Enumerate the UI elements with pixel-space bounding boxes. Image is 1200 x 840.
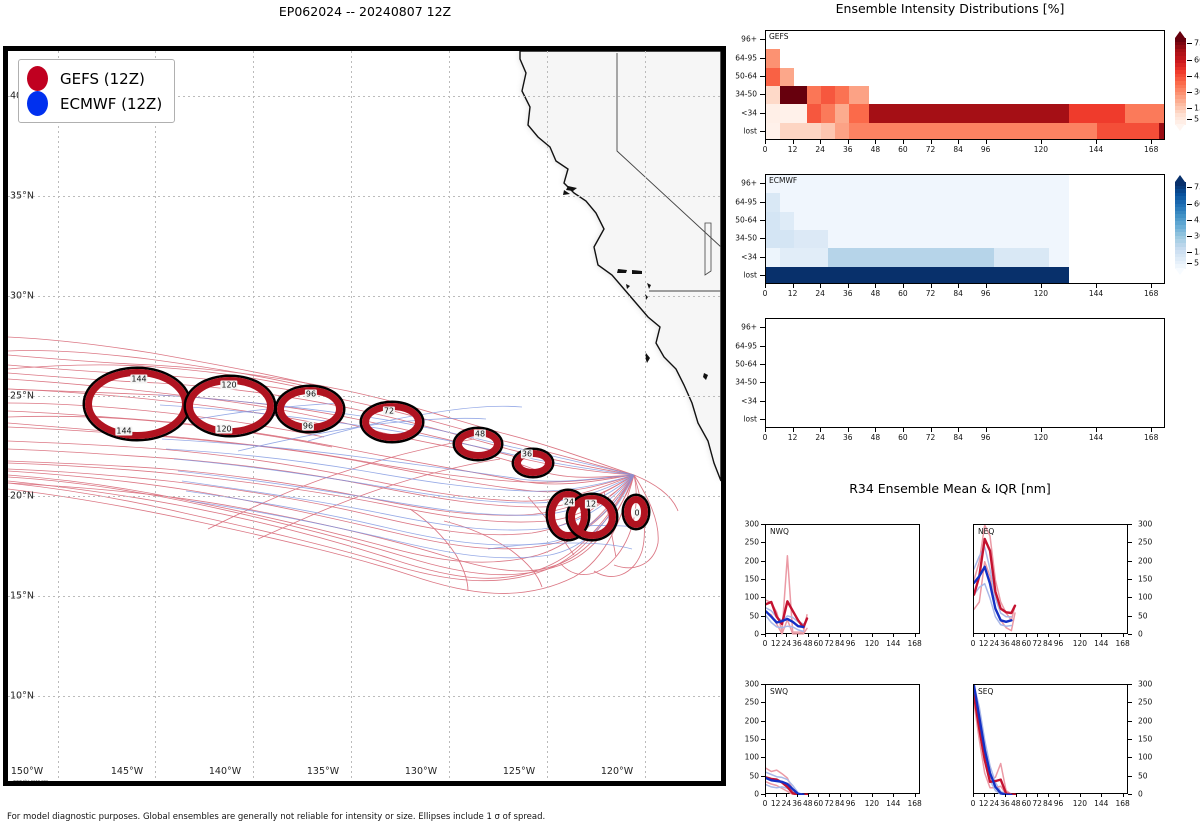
r34-xtick: 12 xyxy=(771,799,781,808)
r34-xtickmark xyxy=(851,634,852,637)
ellipse-label-144: 144 xyxy=(130,375,147,384)
r34-xtick: 60 xyxy=(1022,639,1032,648)
intensity-xtickmark xyxy=(1151,140,1152,144)
r34-xtickmark xyxy=(1059,794,1060,797)
r34-xtickmark xyxy=(786,634,787,637)
r34-xtick: 24 xyxy=(782,639,792,648)
r34-xtickmark xyxy=(1026,634,1027,637)
r34-ytick: 100 xyxy=(737,753,759,762)
intensity-xtick: 96 xyxy=(981,289,991,298)
r34-xtickmark xyxy=(994,794,995,797)
intensity-ytick: 50-64 xyxy=(730,215,757,224)
map-gridline-vertical xyxy=(58,51,59,781)
r34-xtickmark xyxy=(840,634,841,637)
intensity-heatmap-empty[interactable] xyxy=(765,318,1165,428)
intensity-xtick: 48 xyxy=(871,289,881,298)
heatmap-cell xyxy=(766,267,1069,284)
r34-xtick: 24 xyxy=(990,799,1000,808)
r34-ytick: 200 xyxy=(1138,556,1152,565)
map-gridline-horizontal xyxy=(8,296,721,297)
r34-xtick: 24 xyxy=(990,639,1000,648)
lat-label-35n: 35°N xyxy=(8,191,34,202)
intensity-ytick: 96+ xyxy=(730,179,757,188)
r34-ytick: 250 xyxy=(737,698,759,707)
r34-series-layer xyxy=(766,685,921,795)
r34-ytick: 300 xyxy=(737,520,759,529)
intensity-xtickmark xyxy=(1096,284,1097,288)
colorbar-tick: 5 xyxy=(1194,258,1199,267)
r34-ytickmark xyxy=(761,739,765,740)
intensity-xtick: 84 xyxy=(953,289,963,298)
intensity-xtick: 120 xyxy=(1034,145,1048,154)
intensity-xtick: 72 xyxy=(926,433,936,442)
intensity-xtick: 60 xyxy=(898,433,908,442)
colorbar-tick: 30 xyxy=(1194,87,1200,96)
heatmap-cell xyxy=(821,123,835,140)
r34-quadrant-nwq[interactable]: NWQ xyxy=(765,524,920,634)
r34-ytick: 250 xyxy=(1138,698,1152,707)
intensity-heatmap-gefs[interactable]: GEFS xyxy=(765,30,1165,140)
r34-xtick: 36 xyxy=(792,639,802,648)
intensity-xtick: 48 xyxy=(871,145,881,154)
r34-xtick: 168 xyxy=(907,639,921,648)
lat-label-10n: 10°N xyxy=(8,691,34,702)
r34-ytickmark xyxy=(1128,542,1132,543)
intensity-xtick: 144 xyxy=(1089,289,1103,298)
r34-ytick: 0 xyxy=(1138,630,1143,639)
r34-ytick: 0 xyxy=(1138,790,1143,799)
colorbar-tick: 30 xyxy=(1194,231,1200,240)
heatmap-cell xyxy=(869,104,1069,122)
map-gridline-horizontal xyxy=(8,196,721,197)
r34-xtickmark xyxy=(984,634,985,637)
heatmap-cell xyxy=(780,123,821,140)
r34-xtick: 48 xyxy=(803,799,813,808)
heatmap-cell xyxy=(766,212,780,230)
heatmap-model-label: GEFS xyxy=(769,32,789,41)
intensity-xtick: 0 xyxy=(763,433,768,442)
r34-xtickmark xyxy=(1080,634,1081,637)
lat-label-25n: 25°N xyxy=(8,391,34,402)
colorbar-min-arrow-icon xyxy=(1175,124,1185,131)
r34-xtick: 144 xyxy=(886,799,900,808)
r34-xtickmark xyxy=(1059,634,1060,637)
lon-label-135w: 135°W xyxy=(307,766,339,777)
r34-series-layer xyxy=(974,685,1129,795)
r34-xtick: 84 xyxy=(1043,639,1053,648)
intensity-colorbar xyxy=(1175,182,1186,268)
colorbar-tickmark xyxy=(1187,220,1192,221)
intensity-ytickmark xyxy=(760,419,765,420)
r34-xtick: 60 xyxy=(1022,799,1032,808)
quadrant-label: NEQ xyxy=(978,527,994,536)
heatmap-cell xyxy=(828,230,1069,248)
r34-xtickmark xyxy=(829,794,830,797)
intensity-xtickmark xyxy=(820,140,821,144)
intensity-xtickmark xyxy=(931,284,932,288)
r34-ytick: 200 xyxy=(737,716,759,725)
r34-xtickmark xyxy=(872,634,873,637)
heatmap-cell xyxy=(821,104,835,122)
intensity-ytickmark xyxy=(760,113,765,114)
intensity-xtick: 12 xyxy=(788,145,798,154)
r34-xtickmark xyxy=(797,634,798,637)
intensity-xtickmark xyxy=(765,284,766,288)
r34-xtick: 96 xyxy=(846,639,856,648)
r34-ytick: 150 xyxy=(1138,735,1152,744)
intensity-ytick: <34 xyxy=(730,108,757,117)
intensity-xtick: 168 xyxy=(1144,433,1158,442)
ellipse-label-0: 0 xyxy=(633,509,640,518)
r34-ytickmark xyxy=(1128,702,1132,703)
intensity-ytick: 50-64 xyxy=(730,71,757,80)
colorbar-tick: 60 xyxy=(1194,199,1200,208)
intensity-xtick: 36 xyxy=(843,433,853,442)
r34-xtickmark xyxy=(994,634,995,637)
r34-ytick: 250 xyxy=(737,538,759,547)
intensity-ytick: 34-50 xyxy=(730,234,757,243)
r34-ytickmark xyxy=(761,757,765,758)
heatmap-cell xyxy=(780,104,808,122)
intensity-xtickmark xyxy=(848,140,849,144)
heatmap-cell xyxy=(766,104,780,122)
intensity-xtickmark xyxy=(793,140,794,144)
heatmap-cell xyxy=(1159,123,1165,140)
r34-ytickmark xyxy=(1128,616,1132,617)
intensity-ytick: 34-50 xyxy=(730,378,757,387)
intensity-ytickmark xyxy=(760,39,765,40)
r34-ytick: 300 xyxy=(1138,680,1152,689)
intensity-ytick: 50-64 xyxy=(730,359,757,368)
heatmap-cell xyxy=(1069,104,1124,122)
ellipse-label-12: 12 xyxy=(585,500,597,509)
r34-xtick: 0 xyxy=(971,639,976,648)
intensity-ytickmark xyxy=(760,94,765,95)
colorbar-tickmark xyxy=(1187,92,1192,93)
colorbar-tickmark xyxy=(1187,108,1192,109)
r34-xtick: 144 xyxy=(1094,639,1108,648)
r34-ytickmark xyxy=(1128,739,1132,740)
r34-xtick: 120 xyxy=(865,639,879,648)
r34-quadrant-neq[interactable]: NEQ xyxy=(973,524,1128,634)
r34-xtick: 96 xyxy=(1054,799,1064,808)
intensity-ytickmark xyxy=(760,401,765,402)
heatmap-cell xyxy=(766,193,780,211)
intensity-colorbar xyxy=(1175,38,1186,124)
heatmap-cell xyxy=(807,104,821,122)
r34-xtick: 24 xyxy=(782,799,792,808)
r34-ytickmark xyxy=(1128,794,1132,795)
r34-panel-title: R34 Ensemble Mean & IQR [nm] xyxy=(730,481,1170,496)
map-canvas[interactable]: 40°N 35°N 30°N 25°N 20°N 15°N 10°N 150°W… xyxy=(8,51,721,781)
r34-ytick: 150 xyxy=(737,575,759,584)
r34-ytick: 150 xyxy=(737,735,759,744)
intensity-xtickmark xyxy=(1151,428,1152,432)
r34-quadrant-swq[interactable]: SWQ xyxy=(765,684,920,794)
legend-label-gefs: GEFS (12Z) xyxy=(60,70,145,88)
r34-ytick: 300 xyxy=(1138,520,1152,529)
intensity-xtickmark xyxy=(875,284,876,288)
ellipse-label-72: 72 xyxy=(383,407,395,416)
quadrant-label: SEQ xyxy=(978,687,993,696)
lon-label-120w: 120°W xyxy=(601,766,633,777)
colorbar-tick: 75 xyxy=(1194,183,1200,192)
r34-xtick: 144 xyxy=(1094,799,1108,808)
r34-ytickmark xyxy=(761,597,765,598)
colorbar-min-arrow-icon xyxy=(1175,268,1185,275)
colorbar-max-arrow-icon xyxy=(1175,175,1185,182)
r34-xtick: 36 xyxy=(792,799,802,808)
intensity-ytick: <34 xyxy=(730,396,757,405)
spread-ellipse-36 xyxy=(514,450,552,476)
r34-xtick: 84 xyxy=(835,639,845,648)
r34-xtickmark xyxy=(1101,794,1102,797)
heatmap-cell xyxy=(1049,248,1070,266)
colorbar-tick: 60 xyxy=(1194,55,1200,64)
r34-xtickmark xyxy=(1101,634,1102,637)
red-dot-icon xyxy=(27,66,48,91)
r34-ytickmark xyxy=(761,579,765,580)
footer-disclaimer: For model diagnostic purposes. Global en… xyxy=(7,812,545,822)
intensity-xtickmark xyxy=(986,428,987,432)
intensity-xtick: 96 xyxy=(981,433,991,442)
colorbar-tickmark xyxy=(1187,204,1192,205)
colorbar-tick: 45 xyxy=(1194,215,1200,224)
r34-xtickmark xyxy=(973,794,974,797)
intensity-xtick: 24 xyxy=(815,289,825,298)
r34-ytickmark xyxy=(761,524,765,525)
intensity-xtick: 12 xyxy=(788,289,798,298)
heatmap-cell xyxy=(780,86,808,104)
r34-ytickmark xyxy=(761,684,765,685)
heatmap-cell xyxy=(835,123,849,140)
intensity-ytick: <34 xyxy=(730,252,757,261)
intensity-xtick: 24 xyxy=(815,145,825,154)
intensity-ytick: 64-95 xyxy=(730,341,757,350)
ellipse-label-36: 36 xyxy=(521,450,533,459)
r34-xtick: 0 xyxy=(763,639,768,648)
r34-ytickmark xyxy=(1128,524,1132,525)
intensity-xtickmark xyxy=(1041,428,1042,432)
r34-xtickmark xyxy=(1016,634,1017,637)
intensity-xtick: 60 xyxy=(898,289,908,298)
r34-ytickmark xyxy=(1128,776,1132,777)
r34-xtickmark xyxy=(1026,794,1027,797)
map-legend[interactable]: GEFS (12Z) ECMWF (12Z) xyxy=(18,59,175,123)
heatmap-cell xyxy=(766,86,780,104)
r34-xtickmark xyxy=(1048,794,1049,797)
r34-xtick: 72 xyxy=(824,799,834,808)
lon-label-145w: 145°W xyxy=(111,766,143,777)
r34-ytick: 250 xyxy=(1138,538,1152,547)
r34-ytick: 50 xyxy=(737,611,759,620)
intensity-xtickmark xyxy=(1041,140,1042,144)
intensity-ytickmark xyxy=(760,220,765,221)
intensity-ytickmark xyxy=(760,238,765,239)
intensity-ytickmark xyxy=(760,346,765,347)
r34-ytick: 50 xyxy=(737,771,759,780)
r34-ytick: 200 xyxy=(1138,716,1152,725)
r34-xtickmark xyxy=(851,794,852,797)
r34-xtickmark xyxy=(1005,794,1006,797)
r34-xtick: 84 xyxy=(835,799,845,808)
colorbar-tick: 15 xyxy=(1194,247,1200,256)
r34-xtickmark xyxy=(1048,634,1049,637)
heatmap-cell xyxy=(766,175,1069,193)
ellipse-label-120b: 120 xyxy=(215,425,232,434)
r34-xtick: 0 xyxy=(971,799,976,808)
r34-xtickmark xyxy=(765,634,766,637)
r34-xtickmark xyxy=(818,794,819,797)
intensity-ytickmark xyxy=(760,364,765,365)
intensity-xtick: 72 xyxy=(926,289,936,298)
heatmap-cell xyxy=(1097,123,1159,140)
r34-ytick: 100 xyxy=(1138,753,1152,762)
intensity-heatmap-ecmwf[interactable]: ECMWF xyxy=(765,174,1165,284)
legend-item-ecmwf[interactable]: ECMWF (12Z) xyxy=(27,91,162,116)
lon-label-140w: 140°W xyxy=(209,766,241,777)
r34-xtick: 72 xyxy=(824,639,834,648)
heatmap-cell xyxy=(807,86,821,104)
intensity-panel-title: Ensemble Intensity Distributions [%] xyxy=(730,1,1170,16)
intensity-xtick: 72 xyxy=(926,145,936,154)
r34-xtick: 168 xyxy=(1115,799,1129,808)
lat-label-15n: 15°N xyxy=(8,591,34,602)
ellipse-label-24: 24 xyxy=(563,498,575,507)
heatmap-cell xyxy=(849,104,870,122)
quadrant-label: SWQ xyxy=(770,687,788,696)
lon-label-150w: 150°W xyxy=(11,766,43,777)
intensity-ytickmark xyxy=(760,327,765,328)
r34-xtickmark xyxy=(1005,634,1006,637)
ellipse-label-120: 120 xyxy=(220,381,237,390)
colorbar-max-arrow-icon xyxy=(1175,31,1185,38)
r34-xtick: 96 xyxy=(1054,639,1064,648)
r34-xtick: 168 xyxy=(907,799,921,808)
intensity-xtickmark xyxy=(931,428,932,432)
r34-xtick: 48 xyxy=(1011,639,1021,648)
r34-ytick: 100 xyxy=(1138,593,1152,602)
r34-xtickmark xyxy=(1123,634,1124,637)
blue-dot-icon xyxy=(27,91,48,116)
intensity-ytick: lost xyxy=(730,270,757,279)
r34-xtick: 120 xyxy=(1073,799,1087,808)
r34-ytickmark xyxy=(761,616,765,617)
intensity-xtickmark xyxy=(765,140,766,144)
r34-ytickmark xyxy=(1128,597,1132,598)
intensity-xtickmark xyxy=(958,428,959,432)
intensity-ytick: lost xyxy=(730,414,757,423)
intensity-ytick: 64-95 xyxy=(730,53,757,62)
r34-xtickmark xyxy=(776,794,777,797)
intensity-ytick: 96+ xyxy=(730,323,757,332)
intensity-ytick: 64-95 xyxy=(730,197,757,206)
intensity-xtick: 12 xyxy=(788,433,798,442)
intensity-xtick: 60 xyxy=(898,145,908,154)
colorbar-tickmark xyxy=(1187,236,1192,237)
r34-ytickmark xyxy=(761,561,765,562)
intensity-ytick: 34-50 xyxy=(730,90,757,99)
lon-label-125w: 125°W xyxy=(503,766,535,777)
intensity-xtickmark xyxy=(903,284,904,288)
intensity-xtick: 84 xyxy=(953,145,963,154)
intensity-xtickmark xyxy=(793,284,794,288)
r34-xtick: 60 xyxy=(814,799,824,808)
r34-ytickmark xyxy=(1128,684,1132,685)
intensity-xtick: 144 xyxy=(1089,433,1103,442)
intensity-xtickmark xyxy=(848,428,849,432)
intensity-xtick: 0 xyxy=(763,145,768,154)
r34-ytickmark xyxy=(761,721,765,722)
heatmap-cell xyxy=(849,86,870,104)
r34-quadrant-seq[interactable]: SEQ xyxy=(973,684,1128,794)
intensity-xtick: 36 xyxy=(843,289,853,298)
r34-xtick: 60 xyxy=(814,639,824,648)
intensity-xtick: 168 xyxy=(1144,145,1158,154)
intensity-ytickmark xyxy=(760,257,765,258)
intensity-xtickmark xyxy=(1041,284,1042,288)
r34-xtick: 168 xyxy=(1115,639,1129,648)
r34-xtickmark xyxy=(984,794,985,797)
intensity-ytickmark xyxy=(760,382,765,383)
r34-ytick: 0 xyxy=(737,790,759,799)
intensity-xtick: 168 xyxy=(1144,289,1158,298)
intensity-ytickmark xyxy=(760,275,765,276)
intensity-xtickmark xyxy=(1096,140,1097,144)
r34-xtickmark xyxy=(808,634,809,637)
r34-xtickmark xyxy=(1080,794,1081,797)
heatmap-cell xyxy=(766,49,780,67)
r34-xtickmark xyxy=(893,634,894,637)
r34-xtickmark xyxy=(915,634,916,637)
map-gridline-horizontal xyxy=(8,696,721,697)
heatmap-cell xyxy=(766,68,780,86)
map-title: EP062024 -- 20240807 12Z xyxy=(0,4,730,19)
heatmap-cell xyxy=(828,248,994,266)
lat-label-20n: 20°N xyxy=(8,491,34,502)
colorbar-tick: 45 xyxy=(1194,71,1200,80)
map-gridline-vertical xyxy=(351,51,352,781)
map-gridline-vertical xyxy=(449,51,450,781)
intensity-xtickmark xyxy=(986,140,987,144)
intensity-xtick: 84 xyxy=(953,433,963,442)
intensity-ytickmark xyxy=(760,183,765,184)
heatmap-cell xyxy=(780,248,828,266)
r34-ytick: 50 xyxy=(1138,771,1148,780)
right-panel-column: Ensemble Intensity Distributions [%] GEF… xyxy=(730,0,1200,840)
intensity-xtick: 144 xyxy=(1089,145,1103,154)
map-gridline-vertical xyxy=(547,51,548,781)
heatmap-cell xyxy=(766,230,794,248)
r34-ytickmark xyxy=(1128,561,1132,562)
legend-item-gefs[interactable]: GEFS (12Z) xyxy=(27,66,162,91)
map-gridline-horizontal xyxy=(8,496,721,497)
r34-ytick: 300 xyxy=(737,680,759,689)
forecast-track-map[interactable]: 40°N 35°N 30°N 25°N 20°N 15°N 10°N 150°W… xyxy=(3,46,726,786)
intensity-ytickmark xyxy=(760,76,765,77)
r34-xtickmark xyxy=(829,634,830,637)
r34-xtickmark xyxy=(1037,794,1038,797)
r34-xtick: 12 xyxy=(979,639,989,648)
heatmap-cell xyxy=(849,123,1097,140)
heatmap-cell xyxy=(780,68,794,86)
colorbar-tick: 15 xyxy=(1194,103,1200,112)
intensity-ytickmark xyxy=(760,202,765,203)
r34-xtickmark xyxy=(808,794,809,797)
r34-xtickmark xyxy=(776,634,777,637)
r34-ytickmark xyxy=(761,542,765,543)
heatmap-cell xyxy=(780,212,794,230)
